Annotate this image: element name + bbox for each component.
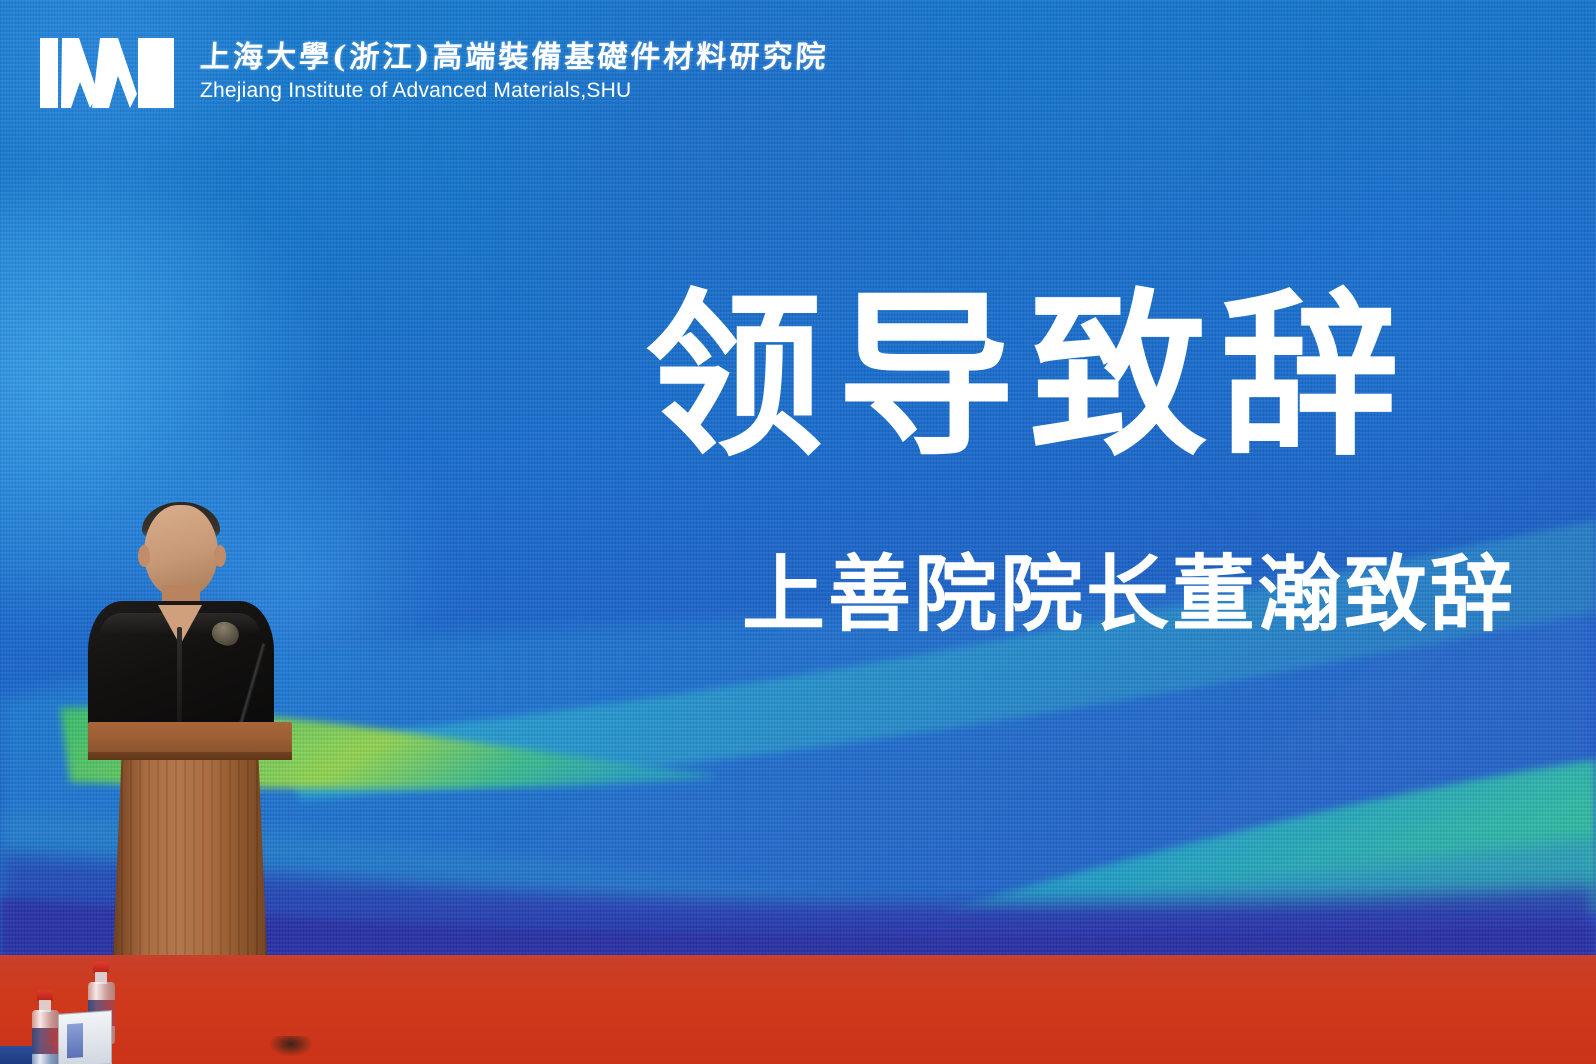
screen-headline: 领导致辞 [645,288,1413,466]
floor-shadow [270,1036,312,1056]
podium-wood-grain [112,760,268,982]
iam-monogram-logo-icon [34,32,184,114]
jacket-zipper [177,627,182,723]
podium-top-edge [88,752,292,760]
bottle-label [32,1028,59,1054]
name-card-accent [67,1023,83,1058]
conference-stage-photo: 上海大學(浙江)高端裝備基礎件材料研究院 Zhejiang Institute … [0,0,1596,1064]
speaker-ear [138,545,150,567]
institute-name-cn: 上海大學(浙江)高端裝備基礎件材料研究院 [199,41,829,75]
speaker-ear [214,545,226,567]
institute-logo-block: 上海大學(浙江)高端裝備基礎件材料研究院 Zhejiang Institute … [34,32,828,114]
floor-sheen [0,955,1596,991]
institute-name-en: Zhejiang Institute of Advanced Materials… [200,77,828,105]
speaker-head [144,505,218,597]
stage-floor [0,955,1596,1064]
screen-subheadline: 上善院院长董瀚致辞 [742,553,1516,636]
name-card [58,1010,112,1064]
